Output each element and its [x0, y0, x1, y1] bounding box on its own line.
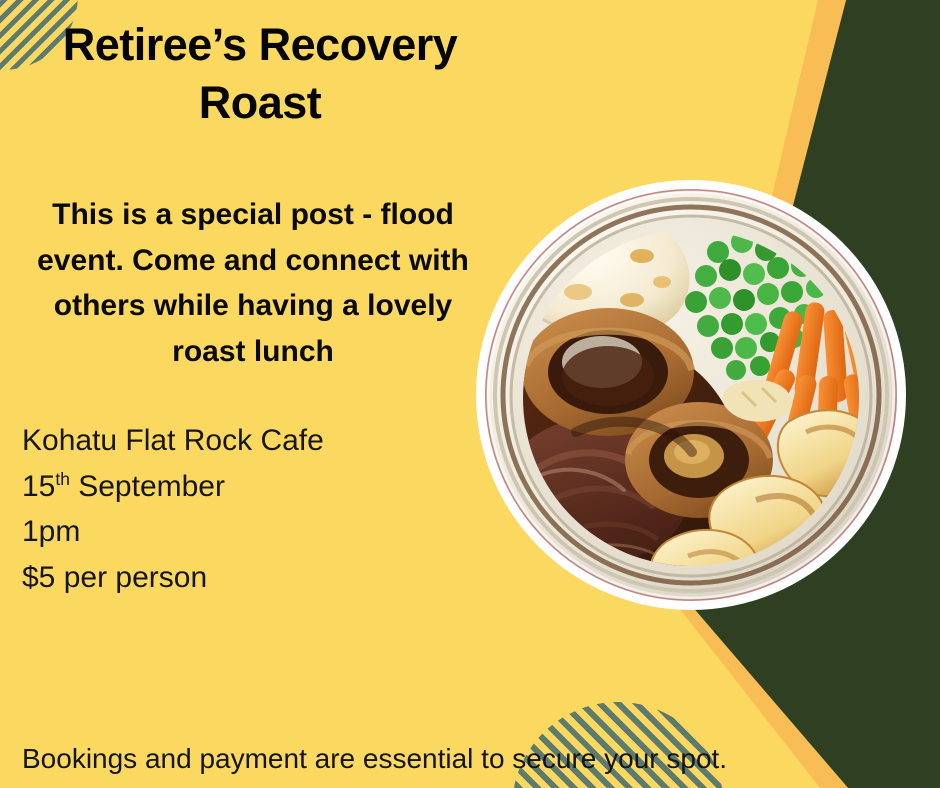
- title-line-2: Roast: [20, 74, 500, 132]
- booking-line-1: Bookings and payment are essential to se…: [22, 736, 922, 781]
- event-details: Kohatu Flat Rock Cafe 15th September 1pm…: [22, 418, 492, 600]
- date-line: 15th September: [22, 464, 492, 510]
- page-title: Retiree’s Recovery Roast: [20, 16, 500, 131]
- date-ordinal: th: [55, 469, 70, 489]
- roast-dinner-illustration: [456, 160, 926, 630]
- title-line-1: Retiree’s Recovery: [20, 16, 500, 74]
- venue-line: Kohatu Flat Rock Cafe: [22, 418, 492, 464]
- booking-info: Bookings and payment are essential to se…: [22, 645, 922, 788]
- time-line: 1pm: [22, 509, 492, 555]
- price-line: $5 per person: [22, 555, 492, 601]
- date-number: 15: [22, 470, 55, 503]
- roast-dinner-photo: [456, 160, 926, 630]
- event-description: This is a special post - flood event. Co…: [14, 192, 492, 374]
- poster-canvas: Retiree’s Recovery Roast This is a speci…: [0, 0, 940, 788]
- date-month: September: [70, 470, 225, 503]
